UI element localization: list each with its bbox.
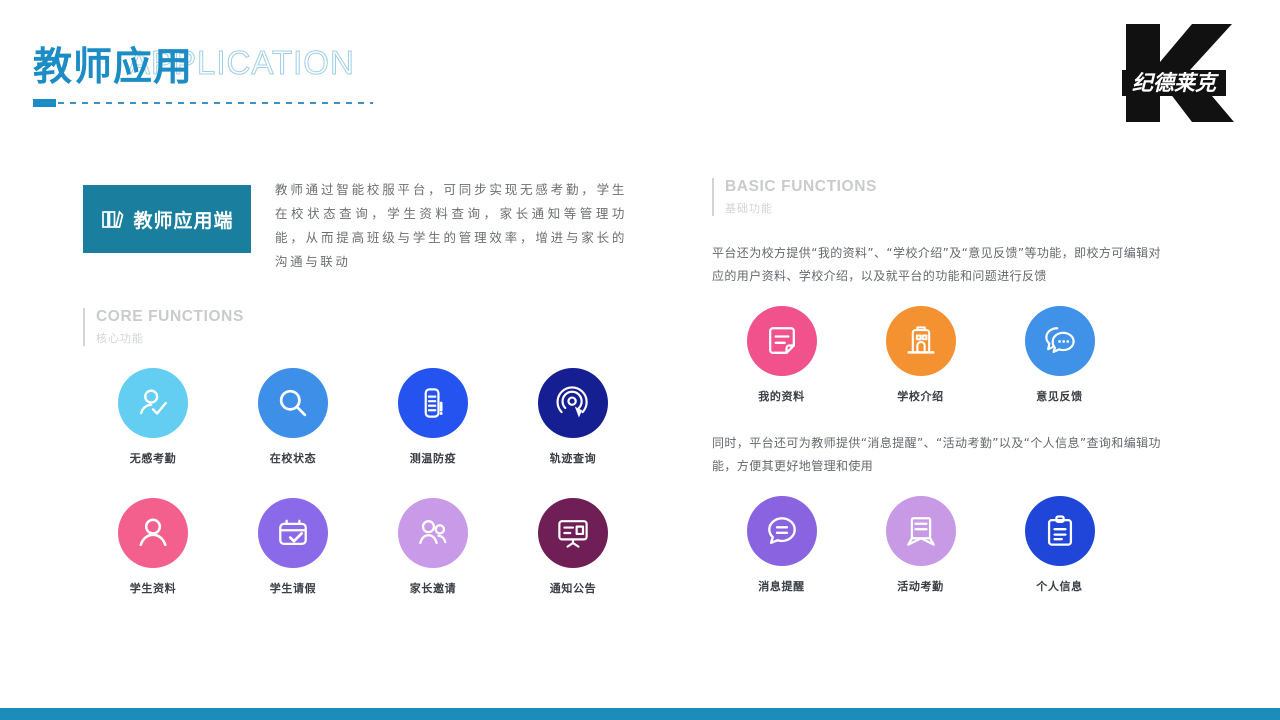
feature-icon-circle xyxy=(538,368,608,438)
feature-item-gerenxinxi[interactable]: 个人信息 xyxy=(990,496,1129,594)
feature-icon-circle xyxy=(886,306,956,376)
feature-item-guijichaxun[interactable]: 轨迹查询 xyxy=(503,368,643,466)
basic-functions-paragraph-2: 同时，平台还可为教师提供“消息提醒”、“活动考勤”以及“个人信息”查询和编辑功能… xyxy=(712,432,1164,478)
feature-label: 无感考勤 xyxy=(130,450,176,466)
intro-row: 教师应用端 教师通过智能校服平台，可同步实现无感考勤，学生在校状态查询，学生资料… xyxy=(83,178,643,274)
feature-label: 学生请假 xyxy=(270,580,316,596)
person-check-icon xyxy=(133,383,173,423)
feature-item-xueshengziliao[interactable]: 学生资料 xyxy=(83,498,223,596)
feature-label: 意见反馈 xyxy=(1036,388,1082,404)
clipboard-icon xyxy=(1040,511,1080,551)
feature-label: 个人信息 xyxy=(1036,578,1082,594)
feature-item-xueshengqingjia[interactable]: 学生请假 xyxy=(223,498,363,596)
brand-logo: 纪德莱克 xyxy=(1108,18,1238,128)
app-badge: 教师应用端 xyxy=(83,185,251,253)
feature-label: 学生资料 xyxy=(130,580,176,596)
feature-icon-circle xyxy=(886,496,956,566)
basic-functions-heading: BASIC FUNCTIONS 基础功能 xyxy=(712,178,1182,216)
feature-icon-circle xyxy=(747,306,817,376)
feature-label: 轨迹查询 xyxy=(550,450,596,466)
feature-item-huodongkaoqin[interactable]: 活动考勤 xyxy=(851,496,990,594)
feedback-chat-icon xyxy=(1040,321,1080,361)
feature-label: 活动考勤 xyxy=(897,578,943,594)
brand-chinese-text: 纪德莱克 xyxy=(1122,70,1226,96)
feature-icon-circle xyxy=(538,498,608,568)
core-functions-heading-en: CORE FUNCTIONS xyxy=(96,308,643,326)
basic-functions-grid-2: 消息提醒 活动考勤 xyxy=(712,496,1182,594)
feature-icon-circle xyxy=(118,368,188,438)
feature-icon-circle xyxy=(118,498,188,568)
slide-root: APPLICATION 教师应用 纪德莱克 xyxy=(0,0,1280,720)
feature-icon-circle xyxy=(747,496,817,566)
calendar-check-icon xyxy=(273,513,313,553)
feature-label: 我的资料 xyxy=(758,388,804,404)
thermometer-icon xyxy=(413,383,453,423)
right-column: BASIC FUNCTIONS 基础功能 平台还为校方提供“我的资料”、“学校介… xyxy=(712,178,1182,594)
feature-item-zaixiaozhuangtai[interactable]: 在校状态 xyxy=(223,368,363,466)
feature-icon-circle xyxy=(398,368,468,438)
feature-item-wodeziliao[interactable]: 我的资料 xyxy=(712,306,851,404)
feature-label: 通知公告 xyxy=(550,580,596,596)
underline-dashes xyxy=(58,102,373,104)
basic-functions-grid-1: 我的资料 学校介绍 xyxy=(712,306,1182,404)
student-profile-icon xyxy=(133,513,173,553)
app-badge-label: 教师应用端 xyxy=(133,206,233,233)
footer-bar xyxy=(0,708,1280,720)
feature-label: 家长邀请 xyxy=(410,580,456,596)
feature-item-xuexiaojieshao[interactable]: 学校介绍 xyxy=(851,306,990,404)
message-bubble-icon xyxy=(762,511,802,551)
noticeboard-icon xyxy=(553,513,593,553)
location-track-icon xyxy=(553,383,593,423)
core-functions-heading-cn: 核心功能 xyxy=(96,330,643,346)
feature-item-jiazhangyaoqing[interactable]: 家长邀请 xyxy=(363,498,503,596)
feature-icon-circle xyxy=(1025,496,1095,566)
left-column: 教师应用端 教师通过智能校服平台，可同步实现无感考勤，学生在校状态查询，学生资料… xyxy=(83,178,643,596)
feature-label: 测温防疫 xyxy=(410,450,456,466)
feature-item-yijianfankui[interactable]: 意见反馈 xyxy=(990,306,1129,404)
feature-icon-circle xyxy=(258,368,328,438)
basic-functions-heading-en: BASIC FUNCTIONS xyxy=(725,178,1182,196)
feature-label: 学校介绍 xyxy=(897,388,943,404)
book-icon xyxy=(901,511,941,551)
feature-icon-circle xyxy=(258,498,328,568)
core-functions-grid: 无感考勤 在校状态 xyxy=(83,368,643,596)
search-icon xyxy=(273,383,313,423)
document-icon xyxy=(762,321,802,361)
feature-item-xiaoxitixing[interactable]: 消息提醒 xyxy=(712,496,851,594)
feature-item-tongzhigonggao[interactable]: 通知公告 xyxy=(503,498,643,596)
svg-text:纪德莱克: 纪德莱克 xyxy=(1132,71,1219,95)
feature-label: 在校状态 xyxy=(270,450,316,466)
books-icon xyxy=(100,207,124,231)
core-functions-heading: CORE FUNCTIONS 核心功能 xyxy=(83,308,643,346)
title-underline xyxy=(33,98,373,108)
basic-functions-paragraph-1: 平台还为校方提供“我的资料”、“学校介绍”及“意见反馈”等功能，即校方可编辑对应… xyxy=(712,242,1164,288)
feature-icon-circle xyxy=(1025,306,1095,376)
school-building-icon xyxy=(901,321,941,361)
feature-item-cewenfangyi[interactable]: 测温防疫 xyxy=(363,368,503,466)
page-title-chinese: 教师应用 xyxy=(33,36,193,92)
underline-block xyxy=(33,99,56,107)
feature-icon-circle xyxy=(398,498,468,568)
intro-paragraph: 教师通过智能校服平台，可同步实现无感考勤，学生在校状态查询，学生资料查询，家长通… xyxy=(275,178,627,274)
feature-item-wugankaoqin[interactable]: 无感考勤 xyxy=(83,368,223,466)
basic-functions-heading-cn: 基础功能 xyxy=(725,200,1182,216)
feature-label: 消息提醒 xyxy=(758,578,804,594)
two-people-icon xyxy=(413,513,453,553)
